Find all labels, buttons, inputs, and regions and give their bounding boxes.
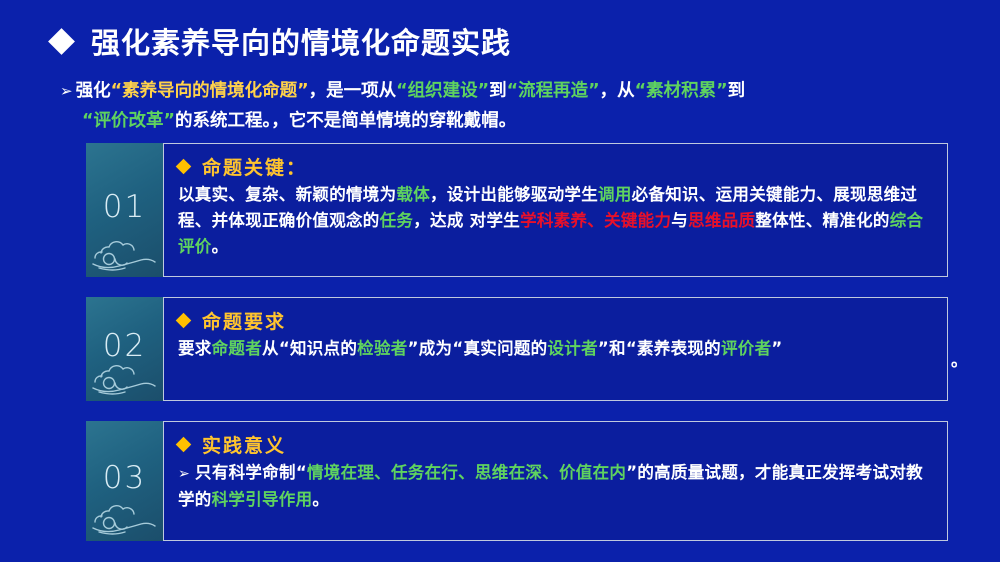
card-heading-03: 实践意义	[202, 431, 286, 458]
diamond-bullet-icon	[176, 437, 192, 453]
diamond-bullet-icon	[48, 28, 75, 55]
card-heading-01: 命题关键：	[202, 153, 307, 180]
content-card-02: 02 命题要求 要求命题者从“知识点的检验者”成为“真实问题的设计者”和“素养表…	[86, 297, 948, 401]
arrow-bullet-icon: ➢	[60, 82, 73, 100]
card-heading-row-03: 实践意义	[178, 431, 935, 458]
subtitle-seg-8: “素材积累”	[635, 81, 728, 101]
text-run-5: ”成为“真实问题的	[408, 339, 548, 358]
card-number-badge-02: 02	[86, 297, 163, 401]
subtitle-seg-9: 到	[728, 81, 746, 101]
content-card-01: 01 命题关键： 以真实、复杂、新颖的情境为载体，设计出能够驱动学生调用必备知识…	[86, 143, 948, 277]
text-run-6: 任务	[380, 211, 414, 230]
card-body-01: 命题关键： 以真实、复杂、新颖的情境为载体，设计出能够驱动学生调用必备知识、运用…	[163, 143, 948, 277]
text-run-4: 检验者	[357, 339, 407, 358]
text-run-9: 与	[671, 211, 688, 230]
slide-root: 强化素养导向的情境化命题实践 ➢强化“素养导向的情境化命题”，是一项从“组织建设…	[0, 0, 1000, 562]
diamond-bullet-icon	[176, 159, 192, 175]
text-run-4: 科学引导作用	[212, 490, 313, 509]
subtitle-seg-3: ，是一项从	[309, 81, 397, 101]
diamond-bullet-icon	[176, 313, 192, 329]
text-run-7: ，达成 对学生	[413, 211, 520, 230]
card-02-trailing-period: 。	[951, 347, 968, 371]
card-text-03: ➢只有科学命制“情境在理、任务在行、思维在深、价值在内”的高质量试题，才能真正发…	[178, 460, 935, 513]
text-run-1: 要求	[178, 339, 212, 358]
arrow-bullet-icon: ➢	[178, 466, 190, 482]
subtitle-seg-11: 的系统工程。，它不是简单情境的穿靴戴帽。	[175, 111, 516, 131]
text-run-10: 思维品质	[688, 211, 755, 230]
text-run-5: 。	[312, 490, 329, 509]
text-run-3: ，设计出能够驱动学生	[430, 185, 598, 204]
card-heading-02: 命题要求	[202, 307, 286, 334]
text-run-1: 以真实、复杂、新颖的情境为	[178, 185, 396, 204]
subtitle-seg-2: “素养导向的情境化命题”	[111, 81, 309, 101]
text-run-8: 评价者	[721, 339, 771, 358]
card-heading-row-02: 命题要求	[178, 307, 935, 334]
text-run-8: 学科素养、关键能力	[520, 211, 671, 230]
text-run-11: 整体性、精准化的	[755, 211, 889, 230]
subtitle-seg-10: “评价改革”	[82, 111, 175, 131]
card-number-badge-03: 03	[86, 421, 163, 541]
content-card-03: 03 实践意义 ➢只有科学命制“情境在理、任务在行、思维在深、价值在内”的高质量…	[86, 421, 948, 541]
card-number-01: 01	[86, 189, 163, 225]
chinese-cloud-icon	[89, 497, 159, 537]
card-heading-row-01: 命题关键：	[178, 153, 935, 180]
page-title: 强化素养导向的情境化命题实践	[52, 20, 511, 62]
text-run-9: ”	[771, 339, 782, 358]
card-text-01: 以真实、复杂、新颖的情境为载体，设计出能够驱动学生调用必备知识、运用关键能力、展…	[178, 182, 935, 260]
card-number-badge-01: 01	[86, 143, 163, 277]
text-run-6: 设计者	[547, 339, 597, 358]
subtitle-seg-7: ，从	[600, 81, 635, 101]
chinese-cloud-icon	[89, 233, 159, 273]
text-run-2: 情境在理、任务在行、思维在深、价值在内	[307, 463, 626, 482]
subtitle-seg-4: “组织建设”	[396, 81, 489, 101]
text-run-2: 载体	[396, 185, 430, 204]
card-number-03: 03	[86, 460, 163, 496]
text-run-13: 。	[212, 237, 229, 256]
subtitle-seg-5: 到	[489, 81, 507, 101]
text-run-7: ”和“素养表现的	[598, 339, 721, 358]
subtitle-paragraph: ➢强化“素养导向的情境化命题”，是一项从“组织建设”到“流程再造”，从“素材积累…	[60, 76, 965, 136]
card-text-02: 要求命题者从“知识点的检验者”成为“真实问题的设计者”和“素养表现的评价者”	[178, 336, 935, 362]
card-body-03: 实践意义 ➢只有科学命制“情境在理、任务在行、思维在深、价值在内”的高质量试题，…	[163, 421, 948, 541]
subtitle-seg-1: 强化	[76, 81, 111, 101]
card-body-02: 命题要求 要求命题者从“知识点的检验者”成为“真实问题的设计者”和“素养表现的评…	[163, 297, 948, 401]
text-run-1: 只有科学命制“	[195, 463, 307, 482]
text-run-2: 命题者	[212, 339, 262, 358]
chinese-cloud-icon	[89, 357, 159, 397]
page-title-text: 强化素养导向的情境化命题实践	[91, 20, 511, 62]
text-run-3: 从“知识点的	[262, 339, 357, 358]
subtitle-seg-6: “流程再造”	[507, 81, 600, 101]
text-run-4: 调用	[598, 185, 632, 204]
